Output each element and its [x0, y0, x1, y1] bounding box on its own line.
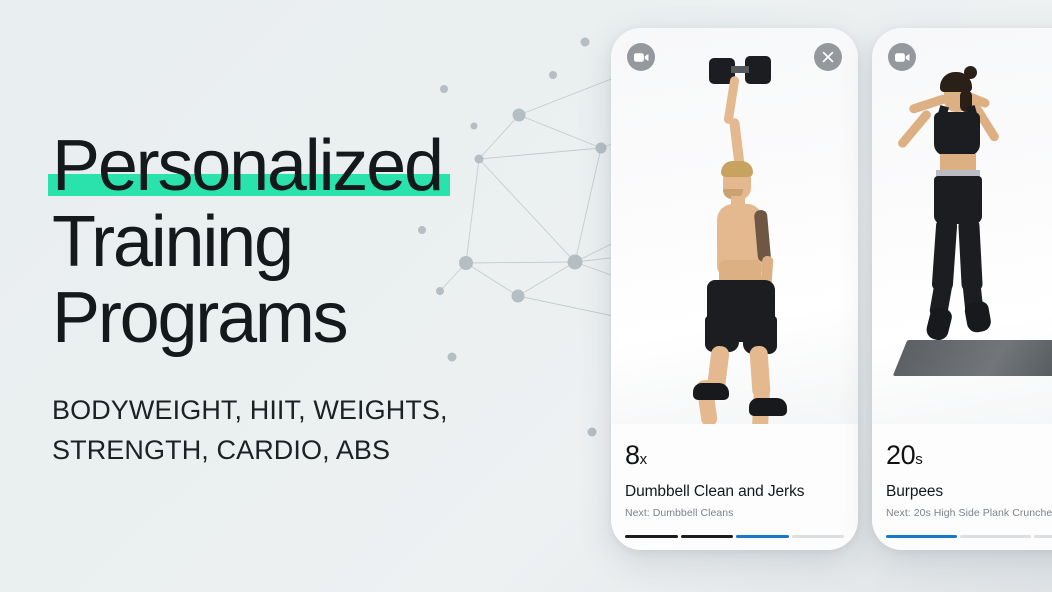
progress-segment	[792, 535, 845, 538]
video-camera-icon[interactable]	[627, 43, 655, 71]
card-1-reps-unit: x	[640, 451, 648, 468]
video-camera-glyph	[634, 52, 649, 63]
headline-line-3: Programs	[52, 280, 572, 356]
card-1-next-label: Next: Dumbbell Cleans	[625, 507, 844, 519]
progress-segment	[681, 535, 734, 538]
card-1-reps-value: 8	[625, 440, 640, 470]
workout-card-2[interactable]: 20s Burpees Next: 20s High Side Plank Cr…	[872, 28, 1052, 550]
card-2-reps-value: 20	[886, 440, 915, 470]
card-2-exercise-name: Burpees	[886, 483, 1052, 501]
card-2-media[interactable]	[872, 28, 1052, 424]
promo-banner: Personalized Training Programs BODYWEIGH…	[0, 0, 1052, 592]
workout-card-1[interactable]: 8x Dumbbell Clean and Jerks Next: Dumbbe…	[611, 28, 858, 550]
card-1-progress-bar[interactable]	[625, 535, 844, 538]
progress-segment	[886, 535, 957, 538]
card-1-reps: 8x	[625, 440, 844, 475]
card-2-reps-unit: s	[915, 451, 923, 468]
page-title: Personalized Training Programs	[52, 128, 572, 356]
hero-subhead: BODYWEIGHT, HIIT, WEIGHTS, STRENGTH, CAR…	[52, 390, 572, 470]
close-icon[interactable]	[814, 43, 842, 71]
card-2-next-label: Next: 20s High Side Plank Crunches	[886, 507, 1052, 519]
progress-segment	[960, 535, 1031, 538]
progress-segment	[625, 535, 678, 538]
card-1-exercise-name: Dumbbell Clean and Jerks	[625, 483, 844, 501]
close-glyph	[822, 51, 834, 63]
hero-copy: Personalized Training Programs BODYWEIGH…	[52, 128, 572, 470]
video-camera-icon[interactable]	[888, 43, 916, 71]
card-2-info: 20s Burpees Next: 20s High Side Plank Cr…	[872, 424, 1052, 519]
headline-line-2: Training	[52, 204, 572, 280]
headline-line-1: Personalized	[52, 126, 442, 206]
card-2-reps: 20s	[886, 440, 1052, 475]
progress-segment	[736, 535, 789, 538]
subhead-line-2: STRENGTH, CARDIO, ABS	[52, 430, 572, 470]
card-1-info: 8x Dumbbell Clean and Jerks Next: Dumbbe…	[611, 424, 858, 519]
card-2-progress-bar[interactable]	[886, 535, 1052, 538]
progress-segment	[1034, 535, 1052, 538]
headline-line-1-wrapper: Personalized	[52, 128, 442, 204]
card-1-media[interactable]	[611, 28, 858, 424]
subhead-line-1: BODYWEIGHT, HIIT, WEIGHTS,	[52, 390, 572, 430]
video-camera-glyph	[895, 52, 910, 63]
